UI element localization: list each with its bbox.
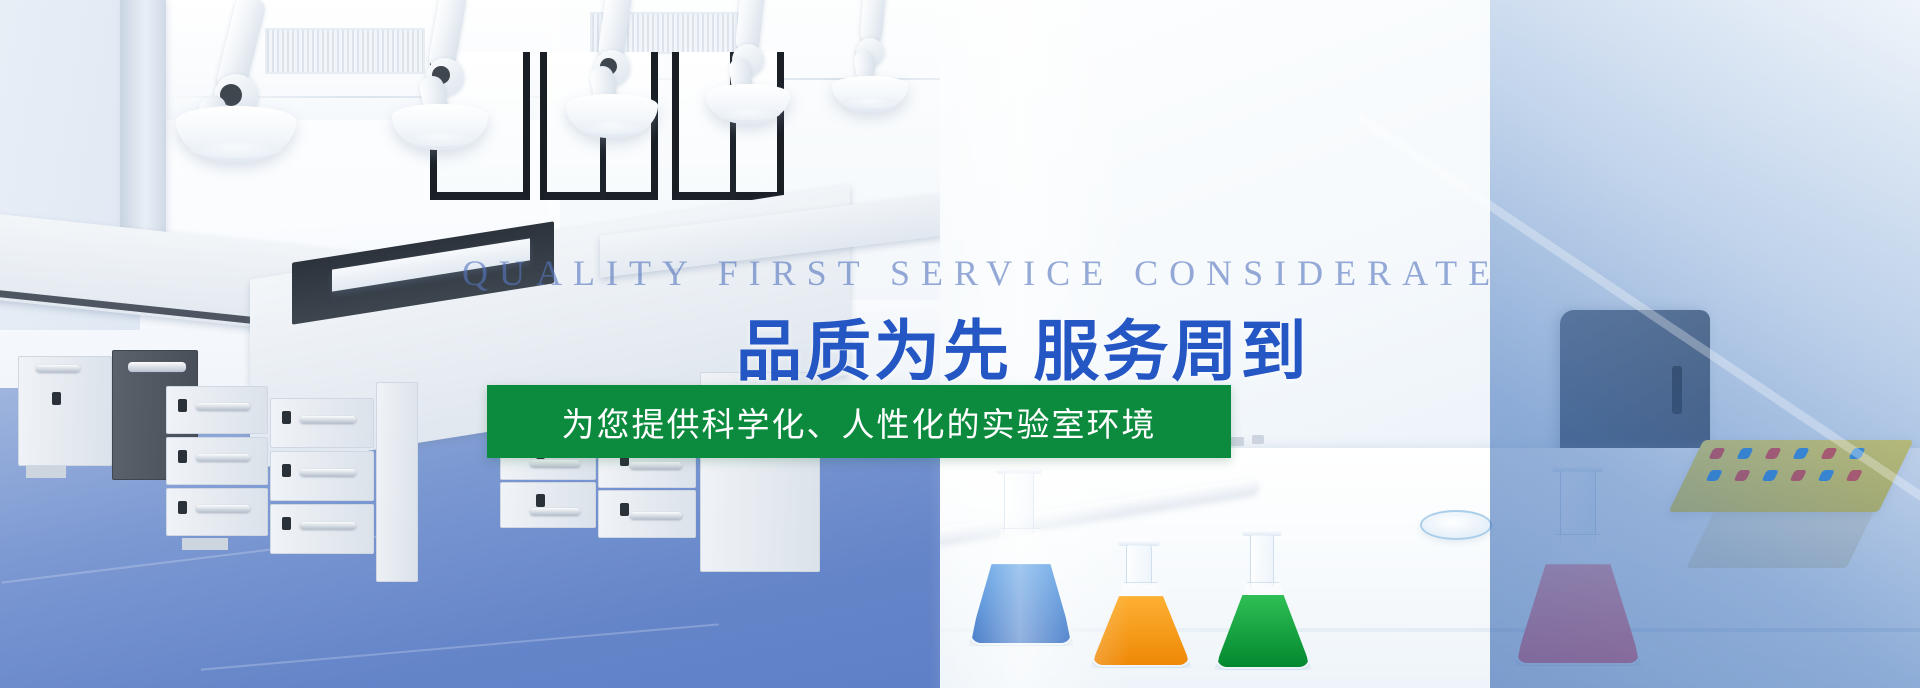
drawer-a3-handle xyxy=(196,505,250,512)
green-flask xyxy=(1212,530,1316,670)
headline: 品质为先 服务周到 xyxy=(736,298,1309,394)
drawer-a2-handle xyxy=(196,454,250,461)
drawer-c2-handle xyxy=(530,460,580,467)
drawer-d2-handle xyxy=(630,462,682,469)
drawer-b3-lock xyxy=(282,517,291,530)
drawer-b2-lock xyxy=(282,464,291,477)
cabinet-foot-left xyxy=(26,466,66,478)
drawer-d3-lock xyxy=(620,503,629,516)
drawer-d3-handle xyxy=(630,512,682,519)
cabinet-side-panel xyxy=(376,382,418,582)
drawer-c3 xyxy=(500,482,596,528)
lab-hero-banner: QUALITY FIRST SERVICE CONSIDERATE 品质为先 服… xyxy=(0,0,1920,688)
drawer-c3-handle xyxy=(530,508,580,515)
drawer-b1-lock xyxy=(282,411,291,424)
desk-label-3 xyxy=(1252,435,1264,444)
cabinet-handle-left xyxy=(36,365,80,372)
drawer-c3-lock xyxy=(536,494,545,507)
drawer-a2-lock xyxy=(178,450,187,463)
diagonal-highlight xyxy=(1360,0,1920,688)
subheadline-text: 为您提供科学化、人性化的实验室环境 xyxy=(562,398,1157,446)
drawer-b3-handle xyxy=(300,522,356,529)
cabinet-pedestal-left xyxy=(18,356,112,466)
subheadline-banner: 为您提供科学化、人性化的实验室环境 xyxy=(487,385,1231,458)
waste-bin-handle xyxy=(128,362,186,372)
drawer-b2-handle xyxy=(300,469,356,476)
cabinet-lock-left xyxy=(52,392,61,405)
drawer-a1-handle xyxy=(196,403,250,410)
drawer-a1-lock xyxy=(178,399,187,412)
english-tagline: QUALITY FIRST SERVICE CONSIDERATE xyxy=(462,252,1501,294)
fume-hood-1 xyxy=(176,106,296,162)
cabinet-foot-center xyxy=(182,538,228,550)
drawer-a3-lock xyxy=(178,501,187,514)
drawer-b1-handle xyxy=(300,416,356,423)
